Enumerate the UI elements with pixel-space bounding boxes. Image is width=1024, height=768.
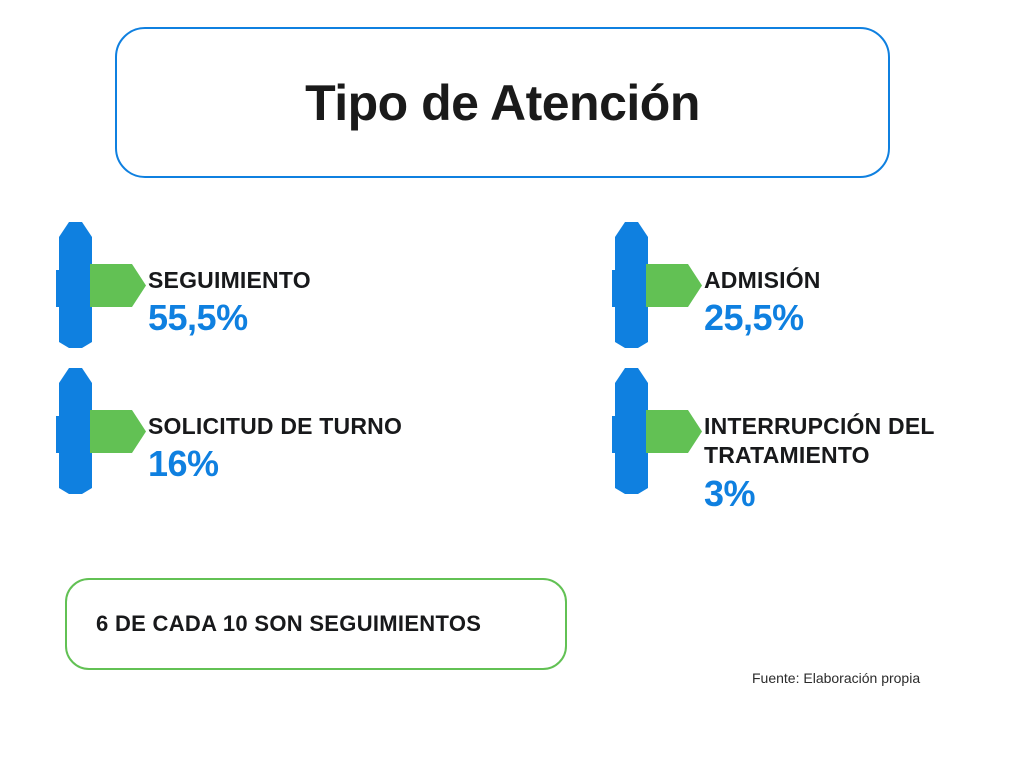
infographic-slide: Tipo de Atención SEGUIMIENTO 55,5% SOLIC… [0, 0, 1024, 768]
stat-text-block: INTERRUPCIÓN DEL TRATAMIENTO 3% [704, 362, 935, 514]
callout-text: 6 DE CADA 10 SON SEGUIMIENTOS [96, 611, 481, 637]
stat-label: SEGUIMIENTO [148, 266, 311, 295]
stat-label: ADMISIÓN [704, 266, 821, 295]
stat-value: 16% [148, 443, 402, 484]
source-note: Fuente: Elaboración propia [752, 670, 920, 686]
highlight-callout-box: 6 DE CADA 10 SON SEGUIMIENTOS [65, 578, 567, 670]
stat-value: 3% [704, 473, 935, 514]
stat-text-block: SOLICITUD DE TURNO 16% [148, 362, 402, 485]
stat-item-admision: ADMISIÓN 25,5% [608, 216, 821, 348]
stat-label: INTERRUPCIÓN DEL TRATAMIENTO [704, 412, 935, 471]
stat-item-solicitud-de-turno: SOLICITUD DE TURNO 16% [52, 362, 402, 494]
stat-item-seguimiento: SEGUIMIENTO 55,5% [52, 216, 311, 348]
page-title: Tipo de Atención [305, 78, 700, 128]
blue-marker-green-arrow-icon [608, 216, 704, 348]
stat-text-block: ADMISIÓN 25,5% [704, 216, 821, 339]
stat-value: 55,5% [148, 297, 311, 338]
blue-marker-green-arrow-icon [52, 216, 148, 348]
stat-text-block: SEGUIMIENTO 55,5% [148, 216, 311, 339]
stat-item-interrupcion-del-tratamiento: INTERRUPCIÓN DEL TRATAMIENTO 3% [608, 362, 935, 514]
title-box: Tipo de Atención [115, 27, 890, 178]
stat-value: 25,5% [704, 297, 821, 338]
blue-marker-green-arrow-icon [52, 362, 148, 494]
blue-marker-green-arrow-icon [608, 362, 704, 494]
stat-label: SOLICITUD DE TURNO [148, 412, 402, 441]
